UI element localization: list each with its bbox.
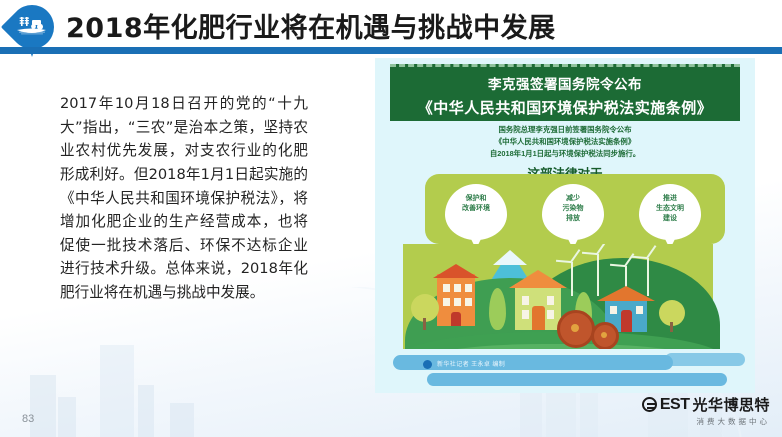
infographic-header-line2: 《中华人民共和国环境保护税法实施条例》 bbox=[390, 92, 740, 116]
benefits-panel: 保护和 改善环境 减少 污染物 排放 推进 生态文明 建设 bbox=[425, 174, 725, 244]
benefit-bubble-2: 减少 污染物 排放 bbox=[542, 184, 604, 240]
wind-turbine-icon bbox=[571, 262, 573, 296]
agriculture-pin-icon bbox=[10, 5, 54, 49]
body-paragraph: 2017年10月18日召开的党的“十九大”指出，“三农”是治本之策，坚持农业农村… bbox=[60, 92, 308, 305]
tree-icon bbox=[489, 288, 506, 330]
wagon-wheel-icon bbox=[591, 322, 619, 350]
illustration-scene: 新华社记者 王永卓 编制 bbox=[375, 244, 755, 393]
infographic-card: 李克强签署国务院令公布 《中华人民共和国环境保护税法实施条例》 国务院总理李克强… bbox=[375, 58, 755, 393]
benefit-1-line1: 保护和 bbox=[445, 194, 507, 204]
best-logo-icon bbox=[642, 397, 657, 412]
brand-tagline: 消费大数据中心 bbox=[642, 416, 770, 427]
benefit-2-line3: 排放 bbox=[542, 214, 604, 224]
subtext-line3: 自2018年1月1日起与环境保护税法同步施行。 bbox=[395, 148, 735, 160]
water-icon: 新华社记者 王永卓 编制 bbox=[375, 349, 755, 393]
benefit-bubble-3: 推进 生态文明 建设 bbox=[639, 184, 701, 240]
wagon-wheel-icon bbox=[557, 310, 595, 348]
benefit-2-line2: 污染物 bbox=[542, 204, 604, 214]
benefit-2-line1: 减少 bbox=[542, 194, 604, 204]
slide: 2018年化肥行业将在机遇与挑战中发展 2017年10月18日召开的党的“十九大… bbox=[0, 0, 782, 437]
page-number: 83 bbox=[22, 413, 34, 425]
wind-turbine-icon bbox=[597, 254, 599, 296]
benefit-3-line1: 推进 bbox=[639, 194, 701, 204]
credit-badge-icon bbox=[423, 360, 432, 369]
page-title: 2018年化肥行业将在机遇与挑战中发展 bbox=[66, 6, 556, 45]
subtext-line1: 国务院总理李克强日前签署国务院令公布 bbox=[395, 124, 735, 136]
brand-name-cn: 光华博思特 bbox=[692, 394, 770, 415]
infographic-header: 李克强签署国务院令公布 《中华人民共和国环境保护税法实施条例》 bbox=[390, 64, 740, 121]
benefit-bubble-1: 保护和 改善环境 bbox=[445, 184, 507, 240]
benefit-3-line3: 建设 bbox=[639, 214, 701, 224]
infographic-header-line1: 李克强签署国务院令公布 bbox=[390, 67, 740, 92]
benefit-1-line2: 改善环境 bbox=[445, 204, 507, 214]
wind-turbine-icon bbox=[647, 258, 649, 296]
illustration-credit: 新华社记者 王永卓 编制 bbox=[437, 359, 505, 368]
brand-logo: EST 光华博思特 消费大数据中心 bbox=[642, 394, 770, 427]
slide-header: 2018年化肥行业将在机遇与挑战中发展 bbox=[0, 0, 782, 56]
benefit-3-line2: 生态文明 bbox=[639, 204, 701, 214]
brand-name-en: EST bbox=[660, 396, 690, 414]
subtext-line2: 《中华人民共和国环境保护税法实施条例》 bbox=[395, 136, 735, 148]
title-underline-rule bbox=[0, 47, 782, 54]
